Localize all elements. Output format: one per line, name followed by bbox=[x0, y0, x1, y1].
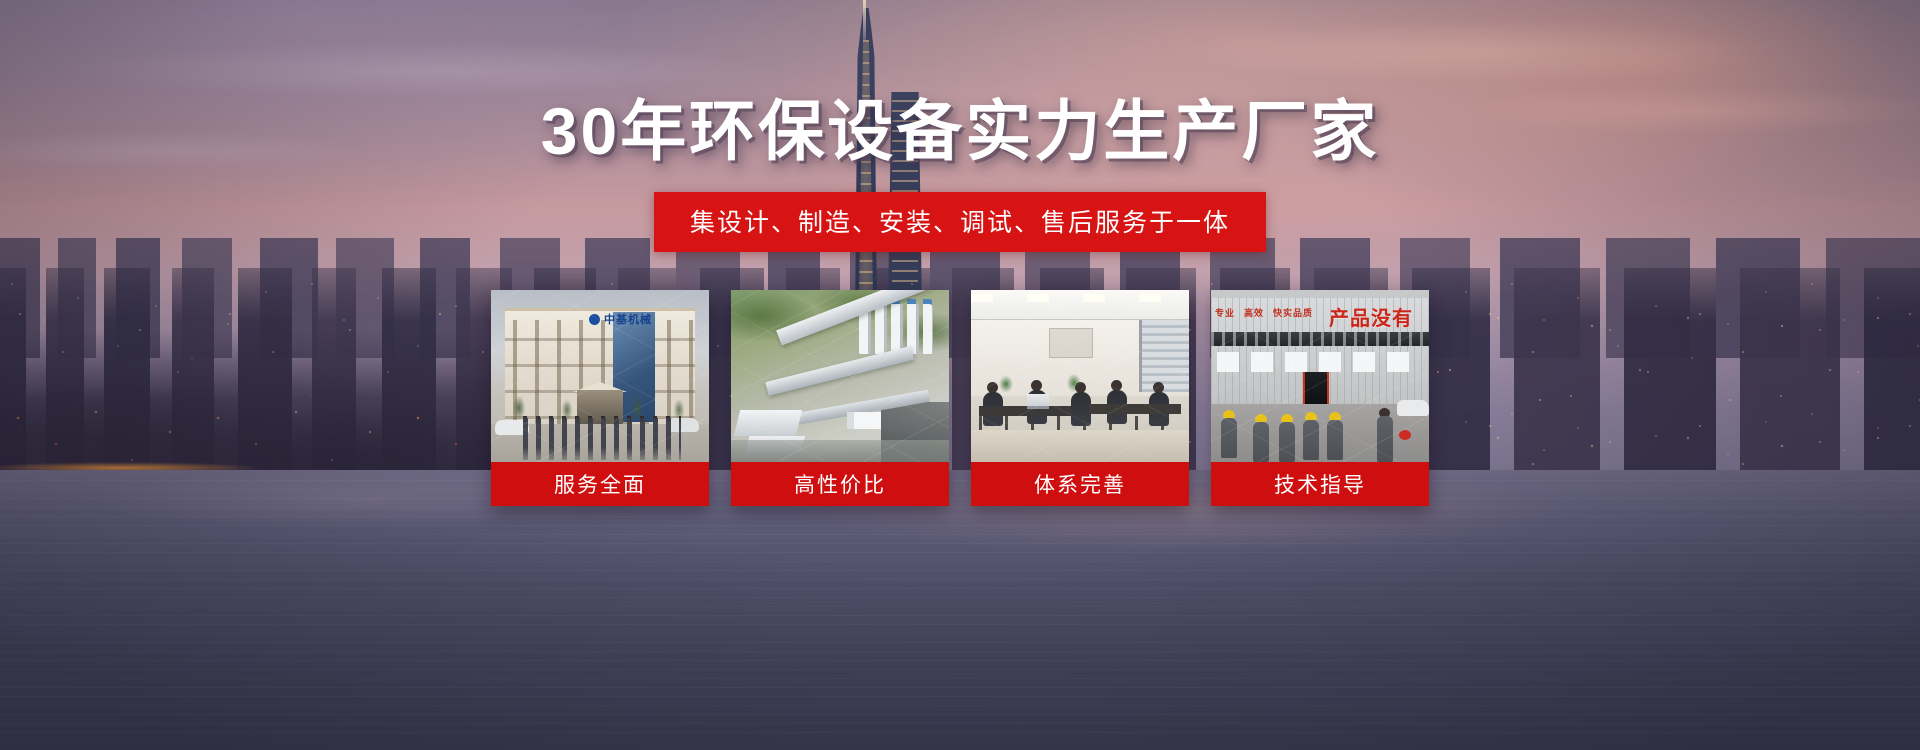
card-photo: 中基机械 bbox=[491, 290, 709, 462]
building-sign-text: 中基机械 bbox=[604, 311, 652, 327]
factory-exterior-photo: 专业 高效 快实品质 产品没有 bbox=[1211, 290, 1429, 462]
feature-card[interactable]: 体系完善 bbox=[971, 290, 1189, 506]
hero-banner: 30年环保设备实力生产厂家 集设计、制造、安装、调试、售后服务于一体 中基机械 bbox=[0, 0, 1920, 750]
office-building-photo: 中基机械 bbox=[491, 290, 709, 462]
feature-card[interactable]: 中基机械 服务全面 bbox=[491, 290, 709, 506]
office-meeting-photo bbox=[971, 290, 1189, 462]
factory-wall-headline: 产品没有 bbox=[1329, 302, 1429, 328]
card-caption: 高性价比 bbox=[731, 462, 949, 506]
building-sign: 中基机械 bbox=[589, 312, 683, 326]
card-photo bbox=[731, 290, 949, 462]
wall-slogan: 专业 bbox=[1215, 306, 1235, 332]
feature-card[interactable]: 高性价比 bbox=[731, 290, 949, 506]
banner-subtitle-bar: 集设计、制造、安装、调试、售后服务于一体 bbox=[654, 192, 1266, 252]
card-caption: 服务全面 bbox=[491, 462, 709, 506]
card-photo bbox=[971, 290, 1189, 462]
banner-content: 30年环保设备实力生产厂家 集设计、制造、安装、调试、售后服务于一体 中基机械 bbox=[0, 0, 1920, 750]
card-photo: 专业 高效 快实品质 产品没有 bbox=[1211, 290, 1429, 462]
industrial-plant-photo bbox=[731, 290, 949, 462]
company-logo-icon bbox=[589, 314, 600, 325]
card-caption: 体系完善 bbox=[971, 462, 1189, 506]
banner-headline: 30年环保设备实力生产厂家 bbox=[541, 98, 1379, 164]
wall-slogan: 快实品质 bbox=[1273, 306, 1313, 332]
feature-card-list: 中基机械 服务全面 bbox=[491, 290, 1429, 506]
factory-wall-slogans: 专业 高效 快实品质 bbox=[1215, 306, 1323, 332]
wall-slogan: 高效 bbox=[1244, 306, 1264, 332]
card-caption: 技术指导 bbox=[1211, 462, 1429, 506]
feature-card[interactable]: 专业 高效 快实品质 产品没有 bbox=[1211, 290, 1429, 506]
